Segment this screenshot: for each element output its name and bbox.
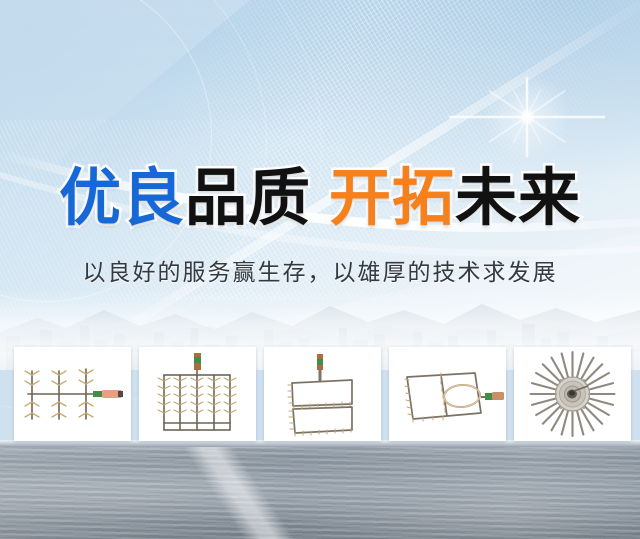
page-title: 优良品质开拓未来 — [0, 163, 640, 235]
square-loop-rack-icon — [389, 347, 506, 441]
product-card[interactable] — [264, 347, 381, 441]
two-tier-frame-rack-icon — [264, 347, 381, 441]
headline-segment-orange: 开拓 — [329, 163, 455, 235]
promotional-banner: 优良品质开拓未来 以良好的服务赢生存，以雄厚的技术求发展 — [0, 0, 640, 539]
product-card[interactable] — [14, 347, 131, 441]
ground-edge-highlight — [0, 440, 640, 447]
double-row-hook-rack-icon — [139, 347, 256, 441]
product-card[interactable] — [389, 347, 506, 441]
product-card[interactable] — [139, 347, 256, 441]
product-thumbnail-row — [14, 347, 626, 441]
comb-type-plating-rack-icon — [14, 347, 131, 441]
ground-sheen — [0, 440, 640, 539]
concrete-ground — [0, 440, 640, 539]
headline-segment-dark-1: 品质 — [185, 163, 311, 235]
product-card[interactable] — [514, 347, 631, 441]
headline-segment-blue: 优良 — [59, 163, 185, 235]
banner-subtitle: 以良好的服务赢生存，以雄厚的技术求发展 — [0, 256, 640, 288]
headline-segment-dark-2: 未来 — [455, 163, 581, 235]
radial-star-rack-icon — [514, 347, 631, 441]
